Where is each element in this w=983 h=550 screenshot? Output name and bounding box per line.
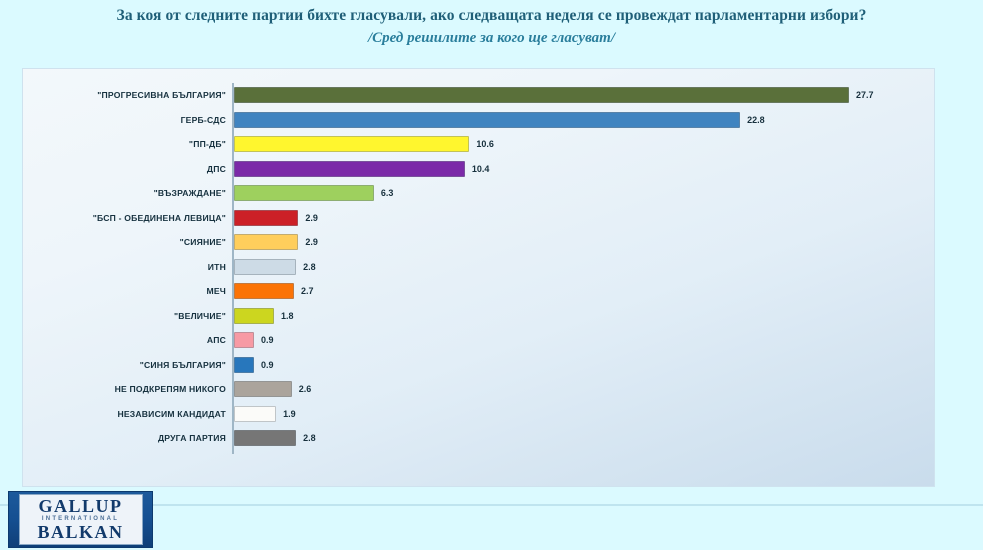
category-label: ДРУГА ПАРТИЯ (158, 433, 233, 443)
bar-value-label: 22.8 (747, 115, 765, 125)
gallup-wordmark: GALLUP (20, 497, 142, 515)
bar-value-label: 2.8 (303, 433, 316, 443)
bar-row: "ВЕЛИЧИЕ"1.8 (23, 304, 936, 328)
category-label: НЕ ПОДКРЕПЯМ НИКОГО (115, 384, 233, 394)
bar-value-label: 6.3 (381, 188, 394, 198)
category-label: ИТН (208, 262, 233, 272)
bar-row: "СИЯНИЕ"2.9 (23, 230, 936, 254)
bar-value-label: 2.9 (305, 213, 318, 223)
bar-row: АПС0.9 (23, 328, 936, 352)
bar (234, 234, 298, 250)
bar-row: "ПП-ДБ"10.6 (23, 132, 936, 156)
category-label: ДПС (207, 164, 233, 174)
page-subtitle: /Сред решилите за кого ще гласуват/ (0, 28, 983, 48)
bar-value-label: 0.9 (261, 335, 274, 345)
chart-title-block: За коя от следните партии бихте гласувал… (0, 6, 983, 48)
chart-panel: "ПРОГРЕСИВНА БЪЛГАРИЯ"27.7ГЕРБ-СДС22.8"П… (22, 68, 935, 487)
category-label: "СИЯНИЕ" (180, 237, 233, 247)
bar-row: ИТН2.8 (23, 255, 936, 279)
plot-area: "ПРОГРЕСИВНА БЪЛГАРИЯ"27.7ГЕРБ-СДС22.8"П… (23, 69, 936, 488)
bar-value-label: 1.8 (281, 311, 294, 321)
bar-value-label: 10.4 (472, 164, 490, 174)
bar-row: ДПС10.4 (23, 157, 936, 181)
gallup-balkan-text: BALKAN (20, 523, 142, 541)
category-label: "СИНЯ БЪЛГАРИЯ" (140, 360, 233, 370)
bar (234, 136, 469, 152)
bar (234, 357, 254, 373)
bar-row: "БСП - ОБЕДИНЕНА ЛЕВИЦА"2.9 (23, 206, 936, 230)
bar (234, 381, 292, 397)
bar (234, 87, 849, 103)
bar (234, 430, 296, 446)
category-label: МЕЧ (206, 286, 233, 296)
category-label: "ВЕЛИЧИЕ" (174, 311, 233, 321)
bar-value-label: 1.9 (283, 409, 296, 419)
bar-value-label: 10.6 (476, 139, 494, 149)
bar-row: "ПРОГРЕСИВНА БЪЛГАРИЯ"27.7 (23, 83, 936, 107)
bar (234, 161, 465, 177)
category-label: "БСП - ОБЕДИНЕНА ЛЕВИЦА" (93, 213, 233, 223)
bar-row: ДРУГА ПАРТИЯ2.8 (23, 426, 936, 450)
bar-row: МЕЧ2.7 (23, 279, 936, 303)
bar-row: "ВЪЗРАЖДАНЕ"6.3 (23, 181, 936, 205)
category-label: НЕЗАВИСИМ КАНДИДАТ (117, 409, 233, 419)
category-label: "ВЪЗРАЖДАНЕ" (154, 188, 233, 198)
gallup-logo-plate: GALLUP INTERNATIONAL BALKAN (19, 494, 143, 545)
bar (234, 259, 296, 275)
bar-row: НЕЗАВИСИМ КАНДИДАТ1.9 (23, 402, 936, 426)
bar (234, 210, 298, 226)
bar (234, 332, 254, 348)
bar (234, 112, 740, 128)
bar-row: ГЕРБ-СДС22.8 (23, 108, 936, 132)
gallup-logo: GALLUP INTERNATIONAL BALKAN (8, 491, 153, 548)
bar-row: "СИНЯ БЪЛГАРИЯ"0.9 (23, 353, 936, 377)
category-label: ГЕРБ-СДС (181, 115, 233, 125)
bar (234, 283, 294, 299)
bar-value-label: 0.9 (261, 360, 274, 370)
bar (234, 185, 374, 201)
bar (234, 406, 276, 422)
bar-value-label: 2.7 (301, 286, 314, 296)
category-label: "ПРОГРЕСИВНА БЪЛГАРИЯ" (97, 90, 233, 100)
page-title: За коя от следните партии бихте гласувал… (0, 6, 983, 26)
bar-value-label: 27.7 (856, 90, 874, 100)
bar (234, 308, 274, 324)
category-label: АПС (207, 335, 233, 345)
category-label: "ПП-ДБ" (189, 139, 233, 149)
bar-value-label: 2.6 (299, 384, 312, 394)
bar-value-label: 2.9 (305, 237, 318, 247)
bar-row: НЕ ПОДКРЕПЯМ НИКОГО2.6 (23, 377, 936, 401)
bar-value-label: 2.8 (303, 262, 316, 272)
